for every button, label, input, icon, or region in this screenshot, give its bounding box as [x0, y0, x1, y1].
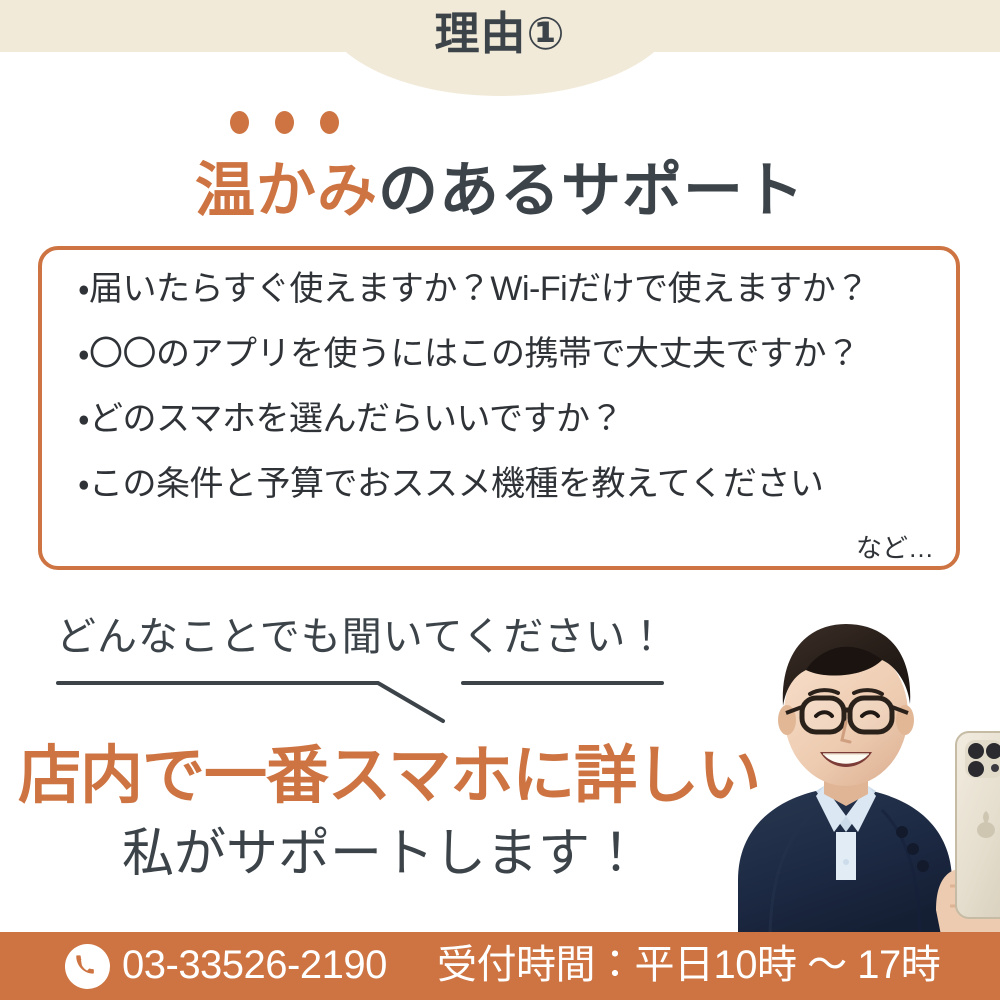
decorative-dots [228, 111, 358, 137]
footer-telephone[interactable]: 03-33526-2190 [122, 943, 387, 987]
list-item: ・この条件と予算でおススメ機種を教えてください [38, 467, 960, 501]
headline-rest: のあるサポート [378, 157, 805, 224]
etc-note: など… [38, 528, 934, 565]
footer-business-hours: 受付時間：平日10時 〜 17時 [437, 943, 940, 987]
headline-accent: 温かみ [195, 157, 378, 224]
page-headline: 温かみのあるサポート [0, 142, 1000, 229]
callout-subline: どんなことでも聞いてください！ [56, 604, 667, 662]
claim-subheadline: 私がサポートします！ [122, 828, 642, 880]
dot-1 [230, 111, 249, 134]
dot-3 [320, 111, 339, 134]
poster-canvas: 理由① 温かみのあるサポート ・届いたらすぐ使えますか？Wi-Fiだけで使えます… [0, 0, 1000, 1000]
list-item: ・どのスマホを選んだらいいですか？ [38, 402, 960, 436]
question-list: ・届いたらすぐ使えますか？Wi-Fiだけで使えますか？ ・〇〇のアプリを使うには… [38, 272, 960, 501]
claim-headline: 店内で一番スマホに詳しい [18, 745, 760, 808]
phone-handset-icon [65, 944, 110, 989]
reason-label: 理由① [0, 10, 1000, 57]
list-item: ・〇〇のアプリを使うにはこの携帯で大丈夫ですか？ [38, 337, 960, 371]
speech-bubble-rule [50, 668, 670, 730]
dot-2 [275, 111, 294, 134]
list-item: ・届いたらすぐ使えますか？Wi-Fiだけで使えますか？ [38, 272, 960, 306]
